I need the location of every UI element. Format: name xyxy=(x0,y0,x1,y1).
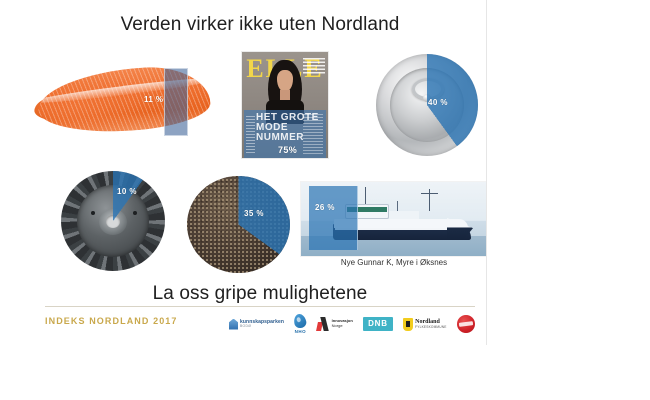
kunnskapsparken-location: BODØ xyxy=(240,325,284,328)
nho-wordmark: NHO xyxy=(295,329,307,334)
nordland-wordmark: Nordland FYLKESKOMMUNE xyxy=(415,319,446,330)
footer-divider xyxy=(45,306,475,307)
magazine-corner-text xyxy=(303,58,325,74)
nho-logo: NHO xyxy=(294,314,306,334)
ship-mast-crossbar xyxy=(421,193,438,194)
dnb-logo: DNB xyxy=(363,314,393,334)
magazine-headline: HET GROTE MODE NUMMER xyxy=(256,113,326,143)
salmon-fillet-image: 11 % xyxy=(33,55,218,155)
ship-overlay-rect xyxy=(309,186,358,250)
ship-caption: Nye Gunnar K, Myre i Øksnes xyxy=(301,258,487,267)
presentation-slide: Verden virker ikke uten Nordland 11 % EL… xyxy=(33,0,487,345)
nordland-fylkeskommune-logo: Nordland FYLKESKOMMUNE xyxy=(403,314,446,334)
innovasjon-norge-mark-icon xyxy=(317,317,330,331)
magazine-overlay-rect: HET GROTE MODE NUMMER xyxy=(244,110,326,158)
magazine-cover-image: ELLE HET GROTE MODE NUMMER 75% xyxy=(236,50,334,160)
ship-crane xyxy=(397,201,398,211)
ship-deckhouse xyxy=(389,211,419,219)
innovasjon-norge-wordmark: Innovasjon Norge xyxy=(332,319,353,328)
roe-overlay-wedge xyxy=(187,176,290,273)
sponsor-logo-row: kunnskapsparken BODØ NHO Innovasjon Norg… xyxy=(229,312,475,336)
can-top-image: 40 % xyxy=(366,50,486,160)
nordland-crest-icon xyxy=(403,318,413,331)
ship-photo-frame: 26 % xyxy=(301,182,487,256)
kunnskapsparken-wordmark: kunnskapsparken BODØ xyxy=(240,320,284,328)
kunnskapsparken-bodo-logo: kunnskapsparken BODØ xyxy=(229,314,284,334)
innovasjon-norge-logo: Innovasjon Norge xyxy=(317,314,353,334)
fishing-vessel-image: 26 % Nye Gunnar K, Myre i Øksnes xyxy=(301,182,487,277)
turbine-runner-image: 10 % xyxy=(55,165,175,277)
magazine-cover-card: ELLE HET GROTE MODE NUMMER xyxy=(242,52,328,158)
page-root: Verden virker ikke uten Nordland 11 % EL… xyxy=(0,0,650,400)
footer-brand-label: INDEKS NORDLAND 2017 xyxy=(45,316,178,326)
sparebank-circle-icon xyxy=(457,315,475,333)
nordland-line2: FYLKESKOMMUNE xyxy=(415,326,446,330)
salmon-overlay-band xyxy=(164,68,188,136)
sparebank-logo xyxy=(457,314,475,334)
innovasjon-line2: Norge xyxy=(332,324,353,329)
turbine-overlay-wedge xyxy=(61,171,165,271)
dnb-wordmark: DNB xyxy=(363,317,393,331)
slide-title-bottom: La oss gripe mulighetene xyxy=(33,283,487,305)
magazine-left-column-text xyxy=(246,116,255,154)
roe-pile-image: 35 % xyxy=(181,172,306,277)
nho-droplet-icon xyxy=(293,313,308,329)
can-overlay-wedge xyxy=(376,54,478,156)
slide-title-top: Verden virker ikke uten Nordland xyxy=(33,14,487,36)
kunnskapsparken-mark-icon xyxy=(229,319,238,330)
ship-foremast xyxy=(365,187,366,204)
